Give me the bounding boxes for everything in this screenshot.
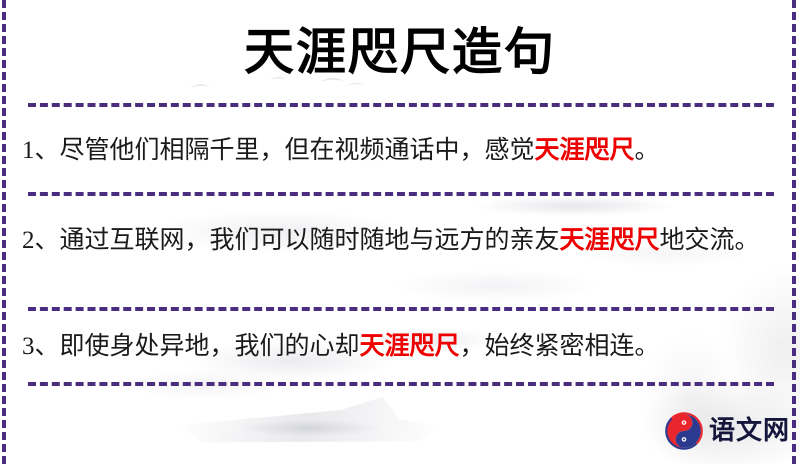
frame-right-dashed-border: [792, 0, 796, 464]
sentence-1-text-before: 尽管他们相隔千里，但在视频通话中，感觉: [60, 137, 535, 164]
boat-watermark: [180, 392, 440, 452]
frame-left-dashed-border: [2, 0, 6, 464]
sentence-1-text-after: 。: [635, 137, 660, 164]
site-logo[interactable]: 语文网: [665, 412, 790, 450]
divider-after-item-1: [28, 192, 774, 196]
sentence-1-index: 1、: [22, 137, 60, 164]
divider-after-item-3: [28, 382, 774, 386]
sentence-3-text-after: ，始终紧密相连。: [460, 333, 660, 360]
sentence-2-text-before: 通过互联网，我们可以随时随地与远方的亲友: [60, 227, 560, 254]
sentence-2-text-after: 地交流。: [660, 227, 760, 254]
site-logo-text: 语文网: [709, 417, 790, 445]
sentence-item-3: 3、即使身处异地，我们的心却天涯咫尺，始终紧密相连。: [22, 324, 774, 370]
sentence-3-keyword: 天涯咫尺: [360, 333, 460, 360]
sentence-item-1: 1、尽管他们相隔千里，但在视频通话中，感觉天涯咫尺。: [22, 128, 774, 174]
sentence-item-2: 2、通过互联网，我们可以随时随地与远方的亲友天涯咫尺地交流。: [22, 218, 774, 264]
sentence-2-index: 2、: [22, 227, 60, 254]
sentence-1-keyword: 天涯咫尺: [535, 137, 635, 164]
page-title: 天涯咫尺造句: [0, 20, 800, 84]
divider-below-title: [28, 103, 774, 107]
sentence-3-index: 3、: [22, 333, 60, 360]
divider-after-item-2: [28, 307, 774, 311]
sentence-2-keyword: 天涯咫尺: [560, 227, 660, 254]
sentence-3-text-before: 即使身处异地，我们的心却: [60, 333, 360, 360]
slide-page: 天涯咫尺造句 1、尽管他们相隔千里，但在视频通话中，感觉天涯咫尺。 2、通过互联…: [0, 0, 800, 464]
yinyang-logo-icon: [665, 412, 703, 450]
